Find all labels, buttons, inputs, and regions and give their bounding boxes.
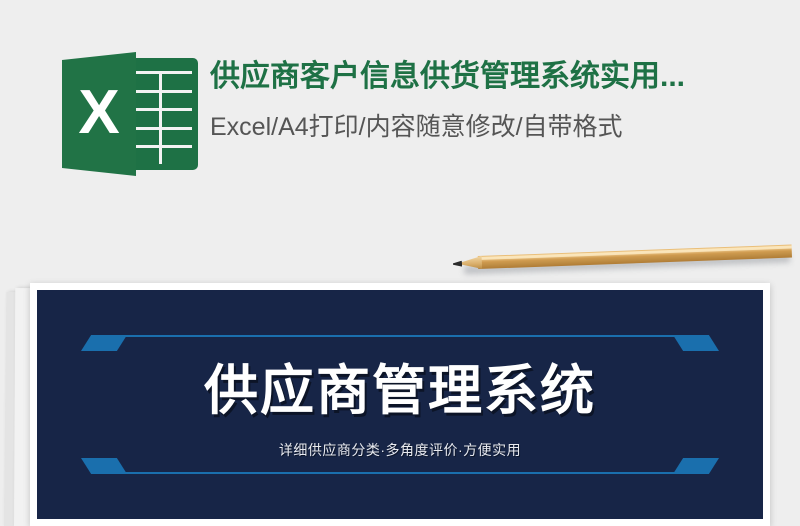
page-title: 供应商客户信息供货管理系统实用... [210, 58, 685, 96]
corner-bracket-top-right-line [391, 335, 675, 337]
grid-header-bar [128, 64, 192, 71]
grid-cell [162, 148, 193, 164]
corner-bracket-top-left-line [125, 335, 409, 337]
header-banner: X 供应商客户信息供货管理系统实用... Excel/A4打印/内容随意修改/自… [0, 0, 800, 240]
grid-row [128, 148, 192, 164]
pencil-graphite-tip [453, 261, 462, 267]
grid-cell [162, 93, 193, 109]
grid-row [128, 130, 192, 146]
corner-bracket-bottom-right-icon [673, 458, 719, 474]
pencil-icon [452, 240, 793, 276]
corner-bracket-bottom-left-line [125, 472, 409, 474]
cover-title: 供应商管理系统 [37, 362, 763, 420]
excel-file-icon: X [62, 52, 198, 176]
grid-cell [162, 74, 193, 90]
corner-bracket-top-left-icon [81, 335, 127, 351]
page-subtitle: Excel/A4打印/内容随意修改/自带格式 [210, 112, 685, 142]
cover-card: 供应商管理系统 详细供应商分类·多角度评价·方便实用 [30, 283, 770, 526]
corner-bracket-bottom-left-icon [81, 458, 127, 474]
header-text-block: 供应商客户信息供货管理系统实用... Excel/A4打印/内容随意修改/自带格… [210, 52, 685, 142]
cover-subtitle: 详细供应商分类·多角度评价·方便实用 [37, 440, 763, 460]
corner-bracket-top-right-icon [673, 335, 719, 351]
header-content: X 供应商客户信息供货管理系统实用... Excel/A4打印/内容随意修改/自… [62, 52, 685, 176]
grid-row [128, 111, 192, 127]
spreadsheet-grid-inner [128, 64, 192, 164]
grid-row [128, 74, 192, 90]
excel-x-letter: X [62, 52, 136, 176]
cover-card-inner: 供应商管理系统 详细供应商分类·多角度评价·方便实用 [37, 290, 763, 519]
corner-bracket-bottom-right-line [391, 472, 675, 474]
grid-cell [162, 111, 193, 127]
grid-cell [162, 130, 193, 146]
grid-row [128, 93, 192, 109]
